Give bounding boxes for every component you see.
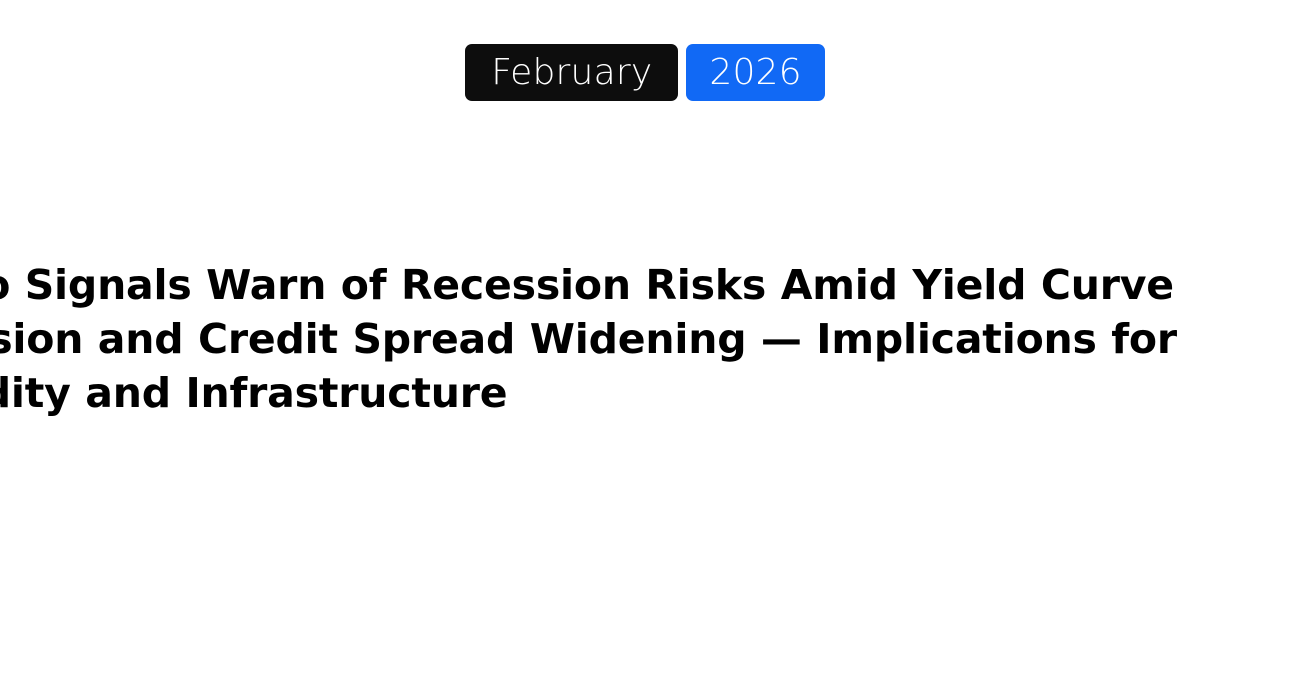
year-badge[interactable]: 2026 — [686, 44, 824, 101]
date-badge-row: February 2026 — [0, 44, 1290, 101]
month-badge[interactable]: February — [465, 44, 678, 101]
page-title: Macro Signals Warn of Recession Risks Am… — [0, 258, 1290, 420]
headline-block: Macro Signals Warn of Recession Risks Am… — [0, 258, 1290, 420]
